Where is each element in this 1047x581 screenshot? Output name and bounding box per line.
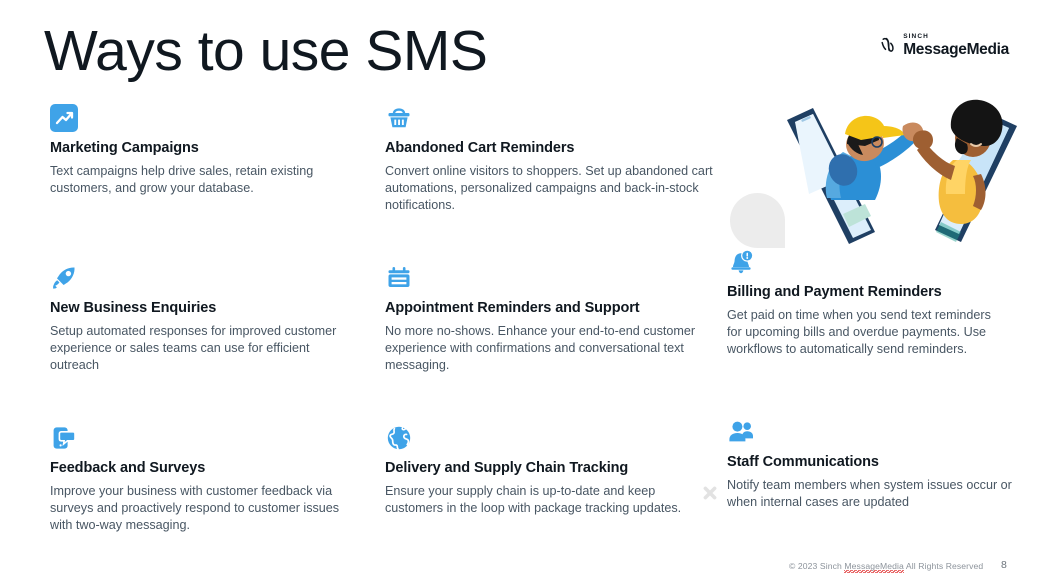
phone-chat-icon — [50, 424, 78, 452]
feature-title: Marketing Campaigns — [50, 140, 340, 156]
feature-title: Delivery and Supply Chain Tracking — [385, 460, 705, 476]
bell-alert-icon — [727, 248, 755, 276]
feature-card-delivery-supply-chain-tracking: Delivery and Supply Chain Tracking Ensur… — [385, 424, 705, 517]
feature-body: No more no-shows. Enhance your end-to-en… — [385, 323, 720, 373]
feature-card-feedback-and-surveys: Feedback and Surveys Improve your busine… — [50, 424, 350, 533]
feature-card-billing-payment-reminders: Billing and Payment Reminders Get paid o… — [727, 248, 1002, 357]
logo-messagemedia-text: MessageMedia — [903, 42, 1009, 58]
feature-body: Convert online visitors to shoppers. Set… — [385, 163, 720, 213]
slide-canvas: Ways to use SMS SINCH MessageMedia — [0, 0, 1047, 581]
feature-title: Feedback and Surveys — [50, 460, 350, 476]
brand-logo: SINCH MessageMedia — [881, 34, 1009, 57]
feature-title: Staff Communications — [727, 454, 1012, 470]
feature-card-staff-communications: Staff Communications Notify team members… — [727, 418, 1012, 511]
feature-body: Improve your business with customer feed… — [50, 483, 350, 533]
feature-card-marketing-campaigns: Marketing Campaigns Text campaigns help … — [50, 104, 340, 197]
feature-title: Abandoned Cart Reminders — [385, 140, 720, 156]
feature-body: Ensure your supply chain is up-to-date a… — [385, 483, 705, 517]
footer-copyright-brand: MessageMedia — [844, 561, 903, 573]
feature-body: Notify team members when system issues o… — [727, 477, 1012, 511]
feature-body: Get paid on time when you send text remi… — [727, 307, 1002, 357]
shopping-basket-icon — [385, 104, 413, 132]
feature-card-abandoned-cart-reminders: Abandoned Cart Reminders Convert online … — [385, 104, 720, 213]
people-group-icon — [727, 418, 755, 446]
fist-bump-illustration — [725, 82, 1043, 262]
page-number: 8 — [1001, 559, 1007, 571]
feature-title: Appointment Reminders and Support — [385, 300, 720, 316]
sinch-wave-icon — [881, 36, 898, 55]
feature-title: New Business Enquiries — [50, 300, 350, 316]
feature-card-appointment-reminders: Appointment Reminders and Support No mor… — [385, 264, 720, 373]
feature-card-new-business-enquiries: New Business Enquiries Setup automated r… — [50, 264, 350, 373]
close-x-icon[interactable] — [702, 485, 718, 501]
calendar-icon — [385, 264, 413, 292]
feature-body: Text campaigns help drive sales, retain … — [50, 163, 340, 197]
footer-copyright: © 2023 Sinch MessageMedia All Rights Res… — [789, 561, 983, 571]
trending-up-icon — [50, 104, 78, 132]
page-title: Ways to use SMS — [44, 22, 487, 82]
logo-sinch-text: SINCH — [903, 34, 1009, 41]
footer-copyright-prefix: © 2023 Sinch — [789, 561, 844, 571]
feature-body: Setup automated responses for improved c… — [50, 323, 350, 373]
globe-icon — [385, 424, 413, 452]
rocket-icon — [50, 264, 78, 292]
footer-copyright-suffix: All Rights Reserved — [904, 561, 983, 571]
feature-title: Billing and Payment Reminders — [727, 284, 1002, 300]
